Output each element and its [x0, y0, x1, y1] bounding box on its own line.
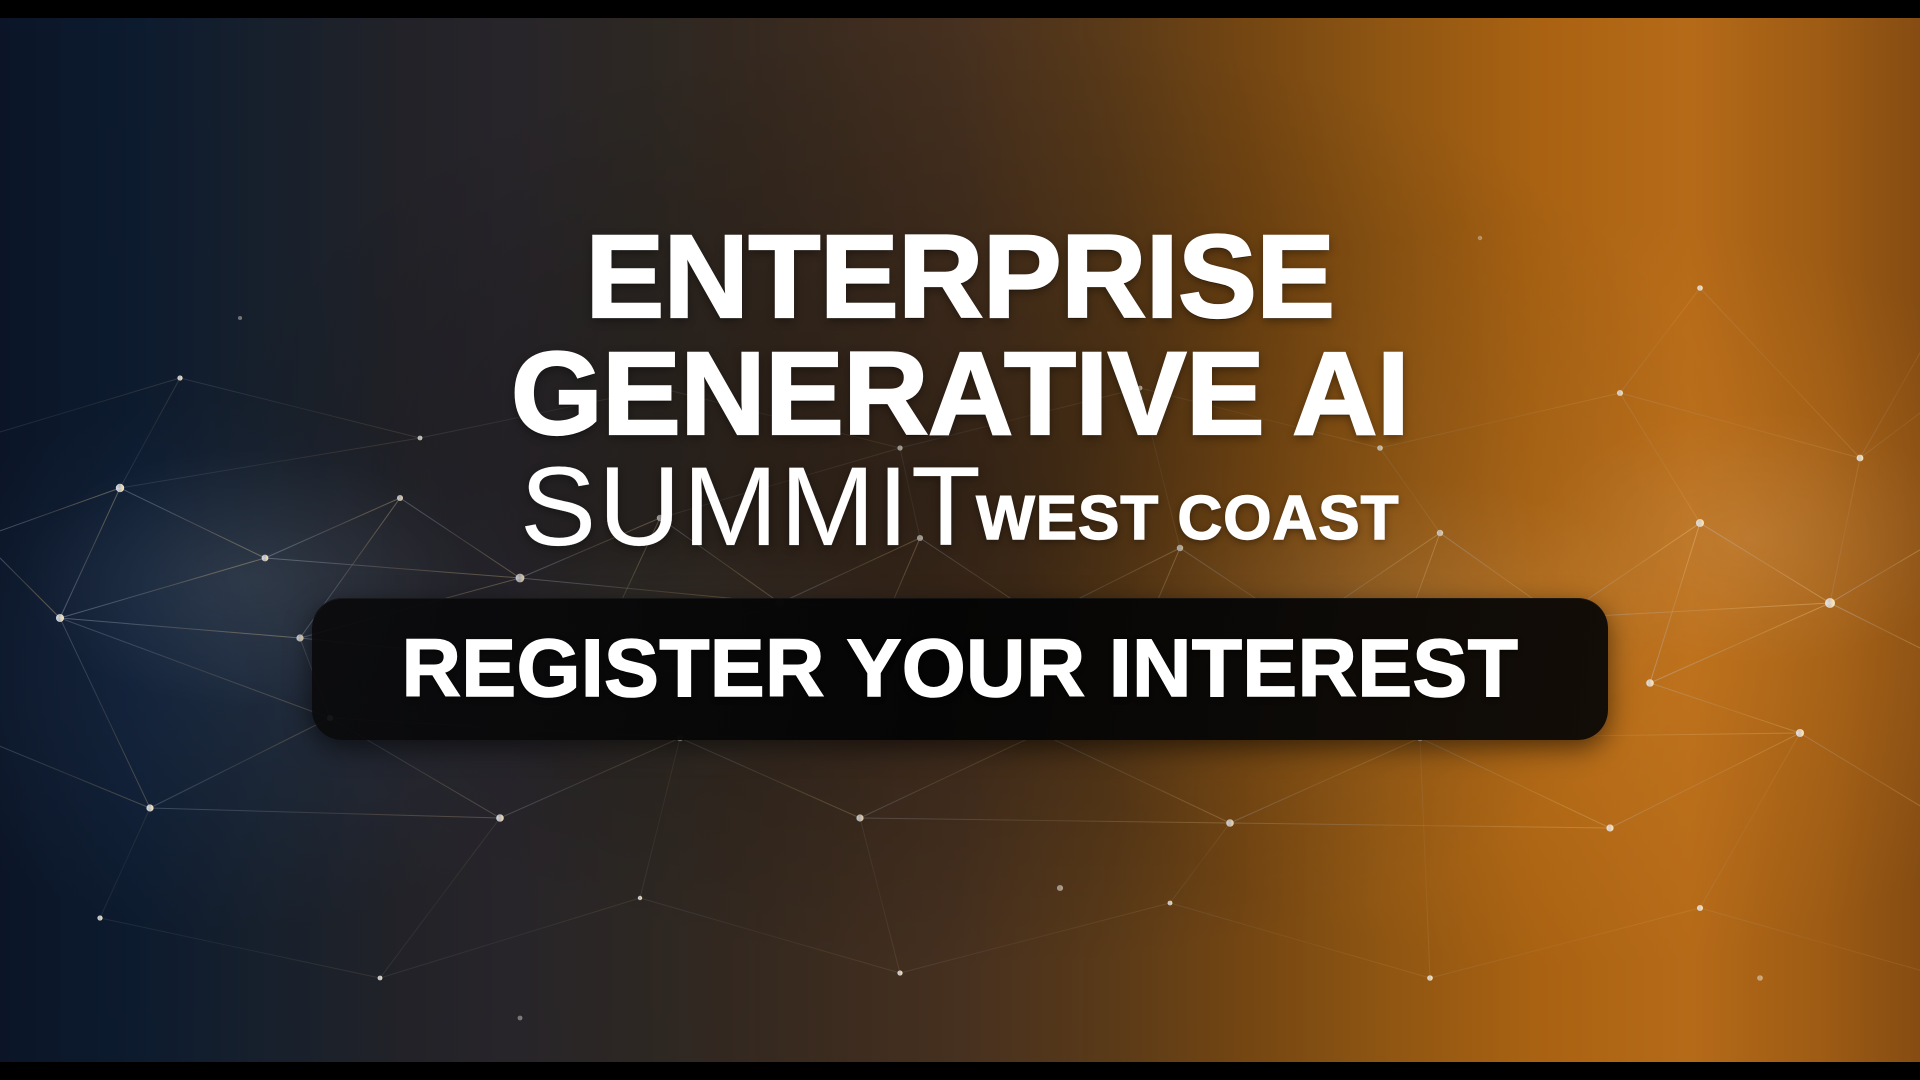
register-button-label: REGISTER YOUR INTEREST	[402, 628, 1519, 710]
letterbox-bar-bottom	[0, 1062, 1920, 1080]
event-title-line-2: GENERATIVE AI	[511, 340, 1409, 449]
event-title-line-1: ENTERPRISE	[585, 223, 1334, 332]
banner-stage: ENTERPRISE GENERATIVE AI SUMMIT WEST COA…	[0, 0, 1920, 1080]
register-your-interest-button[interactable]: REGISTER YOUR INTEREST	[312, 598, 1608, 740]
letterbox-bar-top	[0, 0, 1920, 18]
event-type-label: SUMMIT	[520, 454, 983, 560]
banner-content: ENTERPRISE GENERATIVE AI SUMMIT WEST COA…	[0, 18, 1920, 1062]
event-banner: ENTERPRISE GENERATIVE AI SUMMIT WEST COA…	[0, 18, 1920, 1062]
event-region-label: WEST COAST	[976, 488, 1399, 550]
event-subtitle-row: SUMMIT WEST COAST	[520, 454, 1399, 560]
